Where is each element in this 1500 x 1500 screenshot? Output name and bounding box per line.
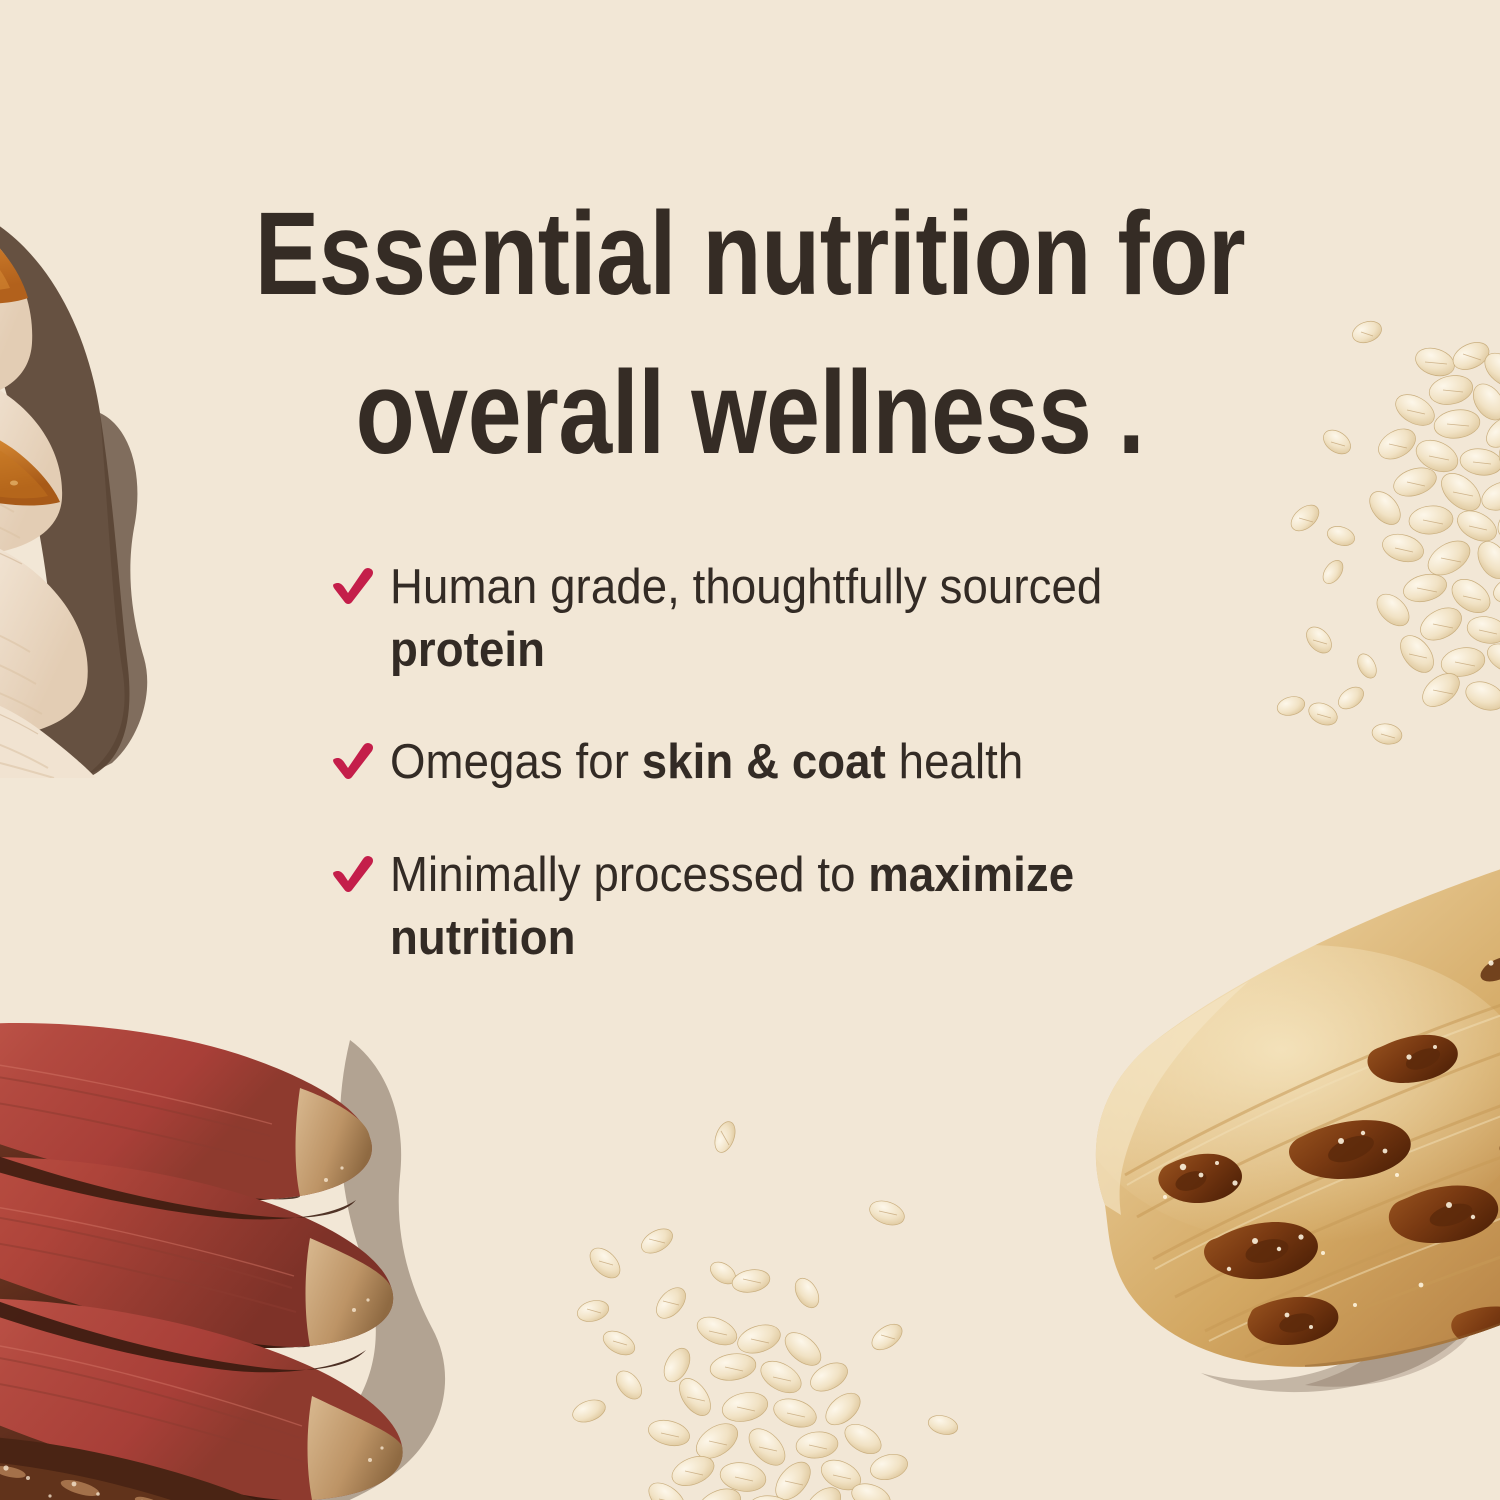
promo-banner: Essential nutrition for overall wellness… [0,0,1500,1500]
checkmark-icon [330,562,376,608]
list-item-label: Human grade, thoughtfully sourced protei… [390,556,1162,681]
list-item: Minimally processed to maximize nutritio… [330,844,1230,969]
list-item-label: Minimally processed to maximize nutritio… [390,844,1162,969]
list-item: Omegas for skin & coat health [330,731,1230,794]
benefits-list: Human grade, thoughtfully sourced protei… [330,556,1230,970]
headline-line-2: overall wellness . [135,334,1365,493]
headline-line-1: Essential nutrition for [135,175,1365,334]
sliced-steak-photo [0,1010,490,1500]
page-title: Essential nutrition for overall wellness… [135,175,1365,494]
list-item: Human grade, thoughtfully sourced protei… [330,556,1230,681]
checkmark-icon [330,737,376,783]
rolled-oats-scatter-photo [545,1115,965,1500]
checkmark-icon [330,850,376,896]
list-item-label: Omegas for skin & coat health [390,731,1023,794]
